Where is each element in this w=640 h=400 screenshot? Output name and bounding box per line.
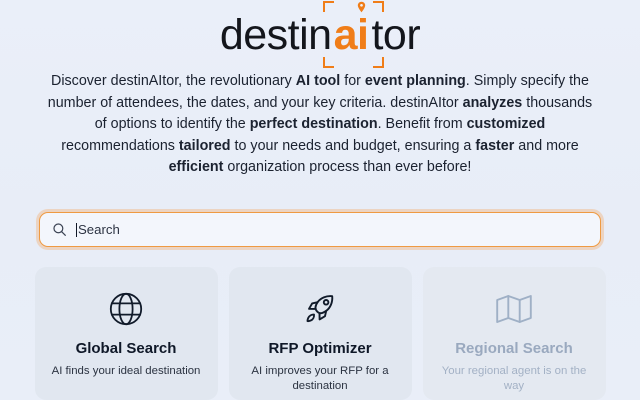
logo-prefix: destin <box>220 14 332 57</box>
emphasis: AI tool <box>296 73 340 89</box>
globe-icon <box>107 289 145 329</box>
card-regional-search: Regional Search Your regional agent is o… <box>423 267 606 400</box>
bracket-bottom-right <box>373 57 384 68</box>
intro-paragraph: Discover destinAItor, the revolutionary … <box>46 71 594 179</box>
logo-accent-text: ai <box>334 11 369 59</box>
search-input[interactable]: Search <box>78 222 120 237</box>
search-row: Search <box>0 212 640 247</box>
search-input-wrapper[interactable]: Search <box>39 212 601 247</box>
text-cursor <box>76 223 77 237</box>
emphasis: analyzes <box>463 95 523 111</box>
logo-suffix: tor <box>371 14 420 57</box>
card-global-search[interactable]: Global Search AI finds your ideal destin… <box>35 267 218 400</box>
search-icon <box>52 222 67 237</box>
emphasis: faster <box>475 138 514 154</box>
emphasis: efficient <box>169 159 224 175</box>
bracket-top-right <box>373 1 384 12</box>
location-pin-icon <box>357 1 366 13</box>
card-title: RFP Optimizer <box>268 340 371 357</box>
app-landing-page: destinaitor Discover destinAItor, the re… <box>0 0 640 400</box>
bracket-bottom-left <box>323 57 334 68</box>
card-rfp-optimizer[interactable]: RFP Optimizer AI improves your RFP for a… <box>229 267 412 400</box>
card-subtitle: AI finds your ideal destination <box>51 364 201 379</box>
emphasis: customized <box>467 116 546 132</box>
bracket-top-left <box>323 1 334 12</box>
card-title: Global Search <box>76 340 177 357</box>
emphasis: tailored <box>179 138 231 154</box>
brand-logo: destinaitor <box>220 13 420 58</box>
rocket-icon <box>301 289 339 329</box>
card-subtitle: Your regional agent is on the way <box>439 364 589 394</box>
feature-card-list: Global Search AI finds your ideal destin… <box>35 267 606 400</box>
logo-wordmark: destinaitor <box>220 14 420 57</box>
map-icon <box>495 289 533 329</box>
emphasis: perfect destination <box>250 116 378 132</box>
logo-accent-ai: ai <box>332 14 372 57</box>
emphasis: event planning <box>365 73 466 89</box>
card-subtitle: AI improves your RFP for a destination <box>245 364 395 394</box>
card-title: Regional Search <box>455 340 573 357</box>
